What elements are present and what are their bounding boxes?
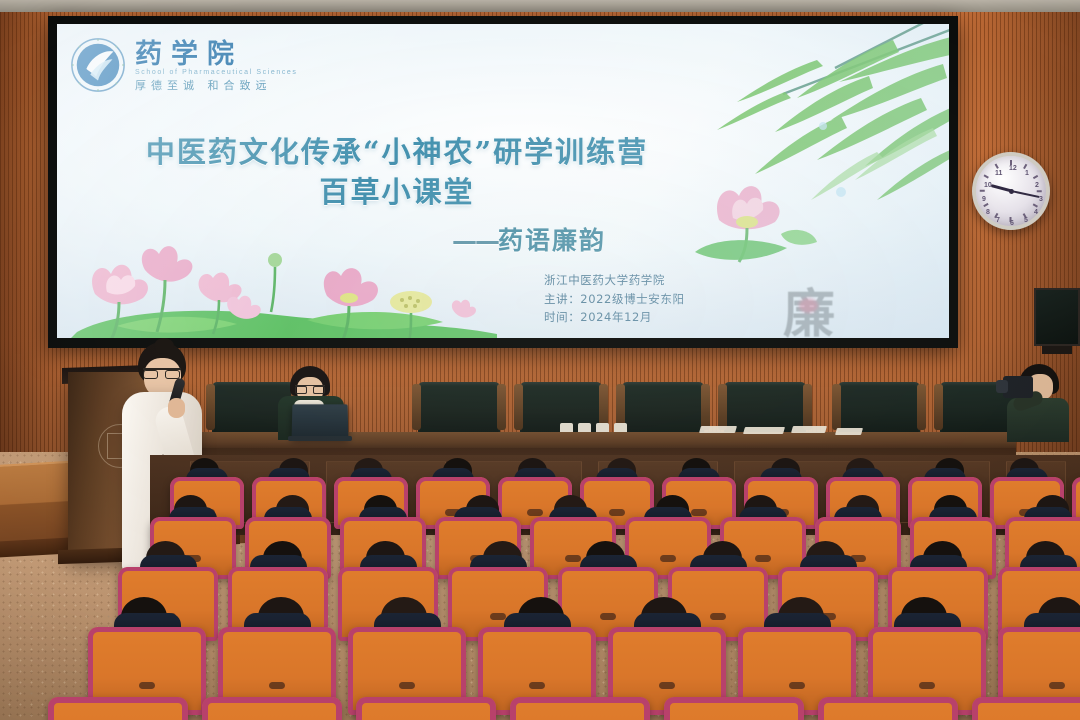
- seat-back: [510, 697, 650, 720]
- seat-back: [48, 697, 188, 720]
- clock-numeral: 7: [996, 217, 1000, 224]
- paper-sheet: [791, 426, 827, 433]
- seat-vent: [919, 682, 935, 689]
- paper-sheet: [835, 428, 863, 435]
- student-audience: [0, 455, 1080, 720]
- seat-vent: [609, 509, 625, 516]
- lotus-decoration-bottom: [57, 222, 517, 338]
- paper-sheet: [699, 426, 737, 433]
- credit-institution: 浙江中医药大学药学院: [544, 271, 685, 290]
- presenter-hand: [168, 398, 185, 418]
- credit-date: 时间：2024年12月: [544, 308, 685, 327]
- seat-back: [664, 697, 804, 720]
- logo-institution-cn: 药学院: [135, 32, 298, 71]
- wall-clock: 12 1 2 3 4 5 6 7 8 9 10 11: [972, 152, 1050, 230]
- logo-institution-en: School of Pharmaceutical Sciences: [135, 69, 298, 76]
- head-table-chair[interactable]: [418, 382, 500, 434]
- auditorium-seat[interactable]: [48, 697, 188, 720]
- clock-numeral: 12: [1009, 165, 1017, 172]
- auditorium-seat[interactable]: [510, 697, 650, 720]
- head-table-chair[interactable]: [838, 382, 920, 434]
- school-logo: 药学院 School of Pharmaceutical Sciences 厚德…: [69, 34, 298, 95]
- projection-screen-frame: 药学院 School of Pharmaceutical Sciences 厚德…: [48, 16, 958, 348]
- clock-tick: [980, 190, 985, 192]
- head-table-chair[interactable]: [622, 382, 704, 434]
- clock-minute-hand: [1011, 190, 1040, 198]
- clock-tick: [984, 175, 989, 179]
- camera-icon: [1003, 376, 1033, 398]
- seat-vent: [660, 555, 676, 562]
- auditorium-seat[interactable]: [818, 697, 958, 720]
- slide-title-line1: 中医药文化传承“小神农”研学训练营: [77, 132, 717, 172]
- seal-ink-dot: [799, 298, 818, 313]
- student-photographer: [1005, 360, 1071, 440]
- seat-vent: [399, 682, 415, 689]
- seat-vent: [710, 613, 726, 620]
- clock-tick: [995, 164, 999, 169]
- auditorium-seat[interactable]: [972, 697, 1080, 720]
- seat-back: [818, 697, 958, 720]
- clock-numeral: 4: [1034, 209, 1038, 216]
- lecture-hall-photo: 药学院 School of Pharmaceutical Sciences 厚德…: [0, 0, 1080, 720]
- seat-vent: [490, 613, 506, 620]
- seat-vent: [755, 555, 771, 562]
- seat-back: [972, 697, 1080, 720]
- clock-tick: [1033, 203, 1038, 207]
- clock-tick: [984, 203, 989, 207]
- clock-center-pin: [1009, 189, 1014, 194]
- slide-credits: 浙江中医药大学药学院 主讲：2022级博士安东阳 时间：2024年12月: [544, 271, 685, 327]
- clock-numeral: 5: [1024, 217, 1028, 224]
- projection-screen: 药学院 School of Pharmaceutical Sciences 厚德…: [57, 24, 949, 338]
- seat-vent: [565, 555, 581, 562]
- wall-mounted-display[interactable]: [1034, 288, 1080, 346]
- clock-numeral: 6: [1010, 220, 1014, 227]
- laptop-base: [288, 436, 352, 441]
- clock-numeral: 1: [1025, 170, 1029, 177]
- presenter-hair-bun: [154, 338, 174, 354]
- slide-title: 中医药文化传承“小神农”研学训练营 百草小课堂: [77, 132, 717, 212]
- auditorium-seat[interactable]: [356, 697, 496, 720]
- paper-sheet: [743, 427, 785, 434]
- seat-vent: [527, 509, 543, 516]
- seat-vent: [789, 682, 805, 689]
- seal-character: 廉: [783, 272, 835, 338]
- clock-tick: [1023, 164, 1027, 169]
- seat-vent: [529, 682, 545, 689]
- logo-motto: 厚德至诚 和合致远: [135, 77, 298, 93]
- credit-presenter: 主讲：2022级博士安东阳: [544, 290, 685, 309]
- clock-tick: [1033, 175, 1038, 179]
- clock-numeral: 3: [1039, 196, 1043, 203]
- clock-numeral: 9: [982, 196, 986, 203]
- seat-vent: [659, 682, 675, 689]
- eyeglasses-icon: [143, 368, 181, 378]
- seat-back: [356, 697, 496, 720]
- seat-vent: [691, 509, 707, 516]
- clock-tick: [1037, 190, 1042, 192]
- slide-title-line2: 百草小课堂: [77, 172, 717, 212]
- clock-numeral: 2: [1035, 182, 1039, 189]
- clock-numeral: 8: [986, 209, 990, 216]
- auditorium-seat[interactable]: [202, 697, 342, 720]
- seat-vent: [269, 682, 285, 689]
- clock-numeral: 11: [995, 170, 1002, 177]
- eyeglasses-icon: [295, 385, 325, 393]
- seat-vent: [139, 682, 155, 689]
- auditorium-seat[interactable]: [664, 697, 804, 720]
- laptop-icon[interactable]: [292, 404, 349, 438]
- seat-back: [202, 697, 342, 720]
- pharmacy-school-emblem-icon: [69, 36, 127, 94]
- seat-vent: [1049, 682, 1065, 689]
- seat-vent: [600, 613, 616, 620]
- display-mount: [1042, 346, 1072, 354]
